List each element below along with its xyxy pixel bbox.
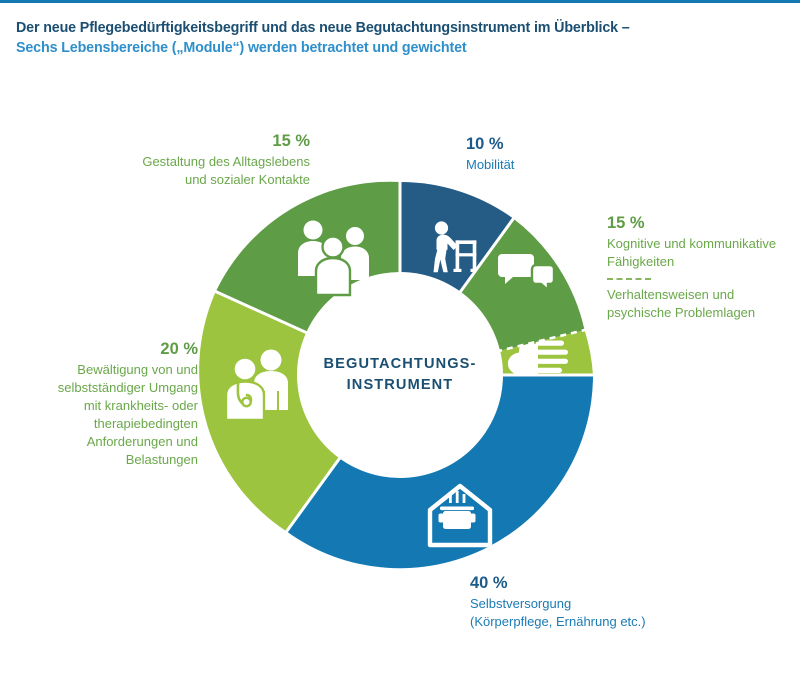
center-label-line-1: BEGUTACHTUNGS- — [300, 354, 500, 375]
callout-bewaeltigung-line-1: Bewältigung von und — [18, 361, 198, 379]
callout-kognitive-faehigkeiten: 15 % Kognitive und kommunikative Fähigke… — [607, 212, 797, 322]
callout-bewaeltigung-line-6: Belastungen — [18, 451, 198, 469]
callout-alltagsleben-percent: 15 % — [60, 130, 310, 153]
callout-mobilitaet: 10 % Mobilität — [466, 133, 666, 174]
callout-bewaeltigung-line-2: selbstständiger Umgang — [18, 379, 198, 397]
callout-selbstversorgung: 40 % Selbstversorgung (Körperpflege, Ern… — [470, 572, 770, 631]
callout-selbstversorgung-line-2: (Körperpflege, Ernährung etc.) — [470, 613, 770, 631]
callout-kognitive-percent: 15 % — [607, 212, 797, 235]
callout-alltagsleben: 15 % Gestaltung des Alltagslebens und so… — [60, 130, 310, 189]
callout-bewaeltigung-line-3: mit krankheits- oder — [18, 397, 198, 415]
callout-selbstversorgung-line-1: Selbstversorgung — [470, 595, 770, 613]
callout-mobilitaet-line-1: Mobilität — [466, 156, 666, 174]
callout-bewaeltigung: 20 % Bewältigung von und selbstständiger… — [18, 338, 198, 469]
callout-selbstversorgung-percent: 40 % — [470, 572, 770, 595]
callout-mobilitaet-percent: 10 % — [466, 133, 666, 156]
donut-chart: BEGUTACHTUNGS- INSTRUMENT 15 % Gestaltun… — [0, 0, 800, 691]
callout-alltagsleben-line-2: und sozialer Kontakte — [60, 171, 310, 189]
center-label-line-2: INSTRUMENT — [300, 375, 500, 396]
callout-kognitive-line-1: Kognitive und kommunikative — [607, 235, 797, 253]
center-label: BEGUTACHTUNGS- INSTRUMENT — [300, 354, 500, 396]
callout-dashed-separator — [607, 278, 651, 280]
callout-kognitive-line-2: Fähigkeiten — [607, 253, 797, 271]
callout-alltagsleben-line-1: Gestaltung des Alltagslebens — [60, 153, 310, 171]
callout-bewaeltigung-line-4: therapiebedingten — [18, 415, 198, 433]
callout-bewaeltigung-percent: 20 % — [18, 338, 198, 361]
callout-verhaltensweisen-line-1: Verhaltensweisen und — [607, 286, 797, 304]
callout-bewaeltigung-line-5: Anforderungen und — [18, 433, 198, 451]
callout-verhaltensweisen-line-2: psychische Problemlagen — [607, 304, 797, 322]
